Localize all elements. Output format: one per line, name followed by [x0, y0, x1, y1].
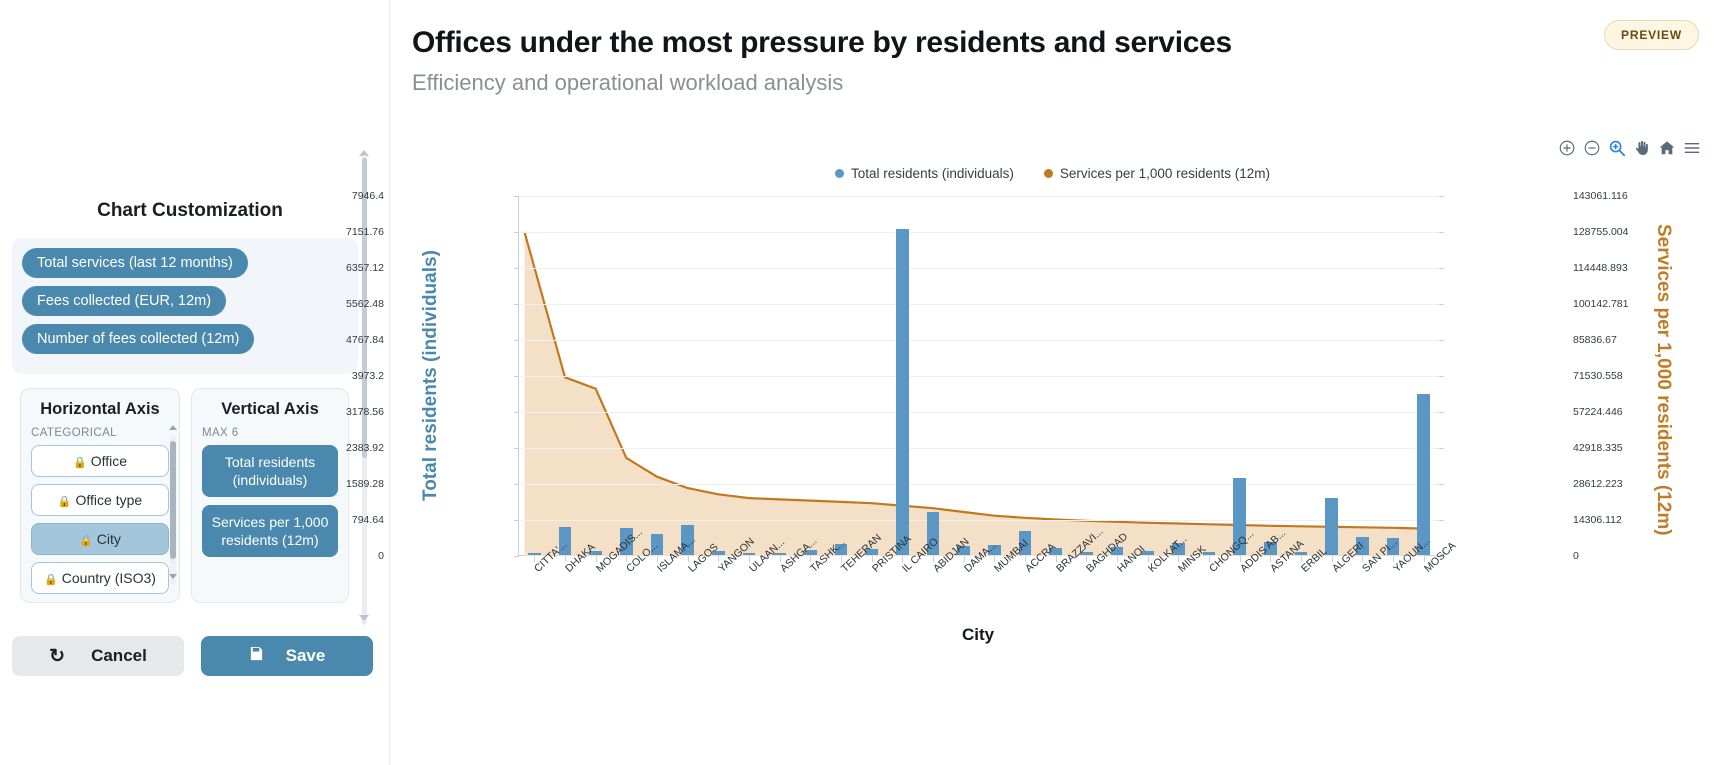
legend-swatch-icon	[835, 169, 844, 178]
chart-plot-area[interactable]: 00794.6414306.1121589.2828612.2232383.92…	[518, 196, 1438, 556]
y-axis-left-tickmark	[514, 268, 519, 269]
h-field-city-label: City	[97, 531, 121, 547]
sidebar-scroll-down-caret[interactable]	[359, 615, 369, 621]
x-axis-tickmark	[994, 556, 995, 562]
y-axis-right-tickmark	[1439, 340, 1444, 341]
x-axis-tickmark	[534, 556, 535, 562]
unused-fields-pool: Total services (last 12 months) Fees col…	[12, 238, 358, 374]
x-axis-tickmark	[1209, 556, 1210, 562]
x-axis-tickmark	[1086, 556, 1087, 562]
x-axis-tickmark	[688, 556, 689, 562]
cancel-button[interactable]: ↻ Cancel	[12, 636, 184, 676]
preview-button[interactable]: PREVIEW	[1604, 20, 1699, 50]
h-field-country-iso3[interactable]: 🔒Country (ISO3)	[31, 562, 169, 594]
y-axis-right-tick-label: 42918.335	[1573, 442, 1623, 454]
y-axis-right-tickmark	[1439, 448, 1444, 449]
y-axis-left-tickmark	[514, 376, 519, 377]
lock-icon: 🔒	[79, 535, 93, 547]
zoom-select-icon[interactable]	[1608, 139, 1626, 157]
gridline	[519, 340, 1439, 341]
chart-bar[interactable]	[528, 553, 541, 555]
h-field-office-type-label: Office type	[76, 492, 143, 508]
vertical-axis-field-list: Total residents (individuals) Services p…	[192, 445, 348, 557]
vertical-axis-card: Vertical Axis MAX 6 Total residents (ind…	[191, 388, 349, 603]
x-axis-tickmark	[596, 556, 597, 562]
horizontal-axis-title: Horizontal Axis	[21, 400, 179, 419]
gridline	[519, 304, 1439, 305]
y-axis-left-tick-label: 1589.28	[346, 478, 384, 490]
gridline	[519, 448, 1439, 449]
chart-customization-sidebar: Chart Customization Total services (last…	[0, 0, 390, 765]
chart-main-area: Offices under the most pressure by resid…	[390, 0, 1715, 765]
menu-icon[interactable]	[1683, 139, 1701, 157]
gridline	[519, 376, 1439, 377]
y-axis-right-tick-label: 128755.004	[1573, 226, 1628, 238]
x-axis-tickmark	[964, 556, 965, 562]
h-axis-scroll-down-caret[interactable]	[169, 574, 177, 579]
h-axis-scrollbar-thumb[interactable]	[170, 441, 176, 559]
v-field-services-per-1000[interactable]: Services per 1,000 residents (12m)	[202, 505, 338, 557]
save-button-label: Save	[286, 646, 326, 666]
y-axis-left-tick-label: 0	[378, 550, 384, 562]
y-axis-left-tickmark	[514, 196, 519, 197]
v-field-total-residents[interactable]: Total residents (individuals)	[202, 445, 338, 497]
y-axis-right-tickmark	[1439, 376, 1444, 377]
y-axis-left-tickmark	[514, 556, 519, 557]
gridline	[519, 412, 1439, 413]
x-axis-tickmark	[1025, 556, 1026, 562]
field-pill-number-of-fees[interactable]: Number of fees collected (12m)	[22, 324, 254, 354]
legend-label-services-per-1000: Services per 1,000 residents (12m)	[1060, 166, 1270, 181]
legend-item-services-per-1000[interactable]: Services per 1,000 residents (12m)	[1044, 166, 1270, 181]
y-axis-right-tick-label: 0	[1573, 550, 1579, 562]
y-axis-left-tick-label: 7946.4	[352, 190, 384, 202]
x-axis-tickmark	[749, 556, 750, 562]
undo-icon: ↻	[49, 645, 65, 668]
x-axis-tickmark	[1424, 556, 1425, 562]
x-axis-tickmark	[1240, 556, 1241, 562]
cancel-button-label: Cancel	[91, 646, 147, 666]
y-axis-left-tick-label: 2383.92	[346, 442, 384, 454]
x-axis-tickmark	[1056, 556, 1057, 562]
x-axis-tickmark	[933, 556, 934, 562]
page-subtitle: Efficiency and operational workload anal…	[412, 70, 843, 96]
y-axis-right-tick-label: 85836.67	[1573, 334, 1617, 346]
y-axis-right-tick-label: 114448.893	[1573, 262, 1628, 274]
x-axis-tickmark	[1393, 556, 1394, 562]
horizontal-axis-card: Horizontal Axis CATEGORICAL 🔒Office 🔒Off…	[20, 388, 180, 603]
h-field-office[interactable]: 🔒Office	[31, 445, 169, 477]
lock-icon: 🔒	[73, 457, 87, 469]
h-field-city[interactable]: 🔒City	[31, 523, 169, 555]
x-axis-tickmark	[1270, 556, 1271, 562]
y-axis-left-tickmark	[514, 484, 519, 485]
y-axis-left-label: Total residents (individuals)	[420, 196, 442, 556]
save-button[interactable]: Save	[201, 636, 373, 676]
field-pill-fees-collected[interactable]: Fees collected (EUR, 12m)	[22, 286, 226, 316]
gridline	[519, 232, 1439, 233]
x-axis-tickmark	[902, 556, 903, 562]
chart-bar[interactable]	[1417, 394, 1430, 555]
gridline	[519, 520, 1439, 521]
x-axis-tickmark	[1178, 556, 1179, 562]
y-axis-right-tick-label: 143061.116	[1573, 190, 1628, 202]
y-axis-right-tickmark	[1439, 304, 1444, 305]
y-axis-left-tick-label: 3178.56	[346, 406, 384, 418]
field-pill-total-services[interactable]: Total services (last 12 months)	[22, 248, 248, 278]
zoom-out-icon[interactable]	[1583, 139, 1601, 157]
chart-bar[interactable]	[1325, 498, 1338, 555]
y-axis-left-tick-label: 3973.2	[352, 370, 384, 382]
home-reset-icon[interactable]	[1658, 139, 1676, 157]
gridline	[519, 484, 1439, 485]
panel-title: Chart Customization	[0, 200, 380, 222]
page-title: Offices under the most pressure by resid…	[412, 26, 1232, 60]
x-axis-tickmark	[780, 556, 781, 562]
pan-hand-icon[interactable]	[1633, 139, 1651, 157]
y-axis-left-tickmark	[514, 412, 519, 413]
chart-toolbar	[1558, 139, 1701, 157]
x-axis-tickmark	[718, 556, 719, 562]
x-axis-tickmark	[626, 556, 627, 562]
legend-swatch-icon	[1044, 169, 1053, 178]
vertical-axis-title: Vertical Axis	[192, 400, 348, 419]
legend-label-total-residents: Total residents (individuals)	[851, 166, 1014, 181]
chart-legend: Total residents (individuals) Services p…	[390, 166, 1715, 181]
gridline	[519, 196, 1439, 197]
y-axis-left-tick-label: 794.64	[352, 514, 384, 526]
h-field-office-type[interactable]: 🔒Office type	[31, 484, 169, 516]
y-axis-right-label: Services per 1,000 residents (12m)	[1652, 180, 1674, 580]
legend-item-total-residents[interactable]: Total residents (individuals)	[835, 166, 1014, 181]
y-axis-right-tickmark	[1439, 520, 1444, 521]
y-axis-right-tick-label: 57224.446	[1573, 406, 1623, 418]
y-axis-left-tick-label: 7151.76	[346, 226, 384, 238]
x-axis-tickmark	[841, 556, 842, 562]
horizontal-axis-field-list: 🔒Office 🔒Office type 🔒City 🔒Country (ISO…	[21, 445, 179, 594]
y-axis-left-tick-label: 4767.84	[346, 334, 384, 346]
y-axis-left-tick-label: 6357.12	[346, 262, 384, 274]
x-axis-tickmark	[872, 556, 873, 562]
vertical-axis-subtitle: MAX 6	[202, 427, 348, 439]
zoom-in-icon[interactable]	[1558, 139, 1576, 157]
x-axis-tickmark	[1117, 556, 1118, 562]
y-axis-right-tickmark	[1439, 484, 1444, 485]
gridline	[519, 268, 1439, 269]
y-axis-left-tickmark	[514, 304, 519, 305]
y-axis-left-tickmark	[514, 520, 519, 521]
x-axis-tickmark	[1332, 556, 1333, 562]
floppy-disk-icon	[249, 646, 264, 666]
x-axis-tickmark	[810, 556, 811, 562]
sidebar-action-row: ↻ Cancel Save	[12, 636, 377, 676]
x-axis-tickmark	[565, 556, 566, 562]
y-axis-left-tickmark	[514, 448, 519, 449]
x-axis-tickmark	[1362, 556, 1363, 562]
y-axis-right-tick-label: 28612.223	[1573, 478, 1623, 490]
y-axis-right-tick-label: 71530.558	[1573, 370, 1623, 382]
h-field-office-label: Office	[91, 453, 127, 469]
horizontal-axis-subtitle: CATEGORICAL	[31, 427, 179, 439]
y-axis-right-tick-label: 14306.112	[1573, 514, 1622, 526]
x-axis-tickmark	[657, 556, 658, 562]
y-axis-right-tickmark	[1439, 196, 1444, 197]
y-axis-right-tickmark	[1439, 232, 1444, 233]
y-axis-left-tickmark	[514, 340, 519, 341]
x-axis-tickmark	[1301, 556, 1302, 562]
y-axis-right-tickmark	[1439, 412, 1444, 413]
x-axis-label: City	[518, 625, 1438, 645]
y-axis-right-tick-label: 100142.781	[1573, 298, 1628, 310]
h-axis-scroll-up-caret[interactable]	[169, 425, 177, 430]
h-field-country-label: Country (ISO3)	[62, 570, 156, 586]
chart-bar[interactable]	[896, 229, 909, 555]
x-axis-tickmark	[1148, 556, 1149, 562]
y-axis-right-tickmark	[1439, 268, 1444, 269]
lock-icon: 🔒	[44, 574, 58, 586]
area-series-fill	[525, 232, 1424, 556]
y-axis-left-tick-label: 5562.48	[346, 298, 384, 310]
lock-icon: 🔒	[58, 496, 72, 508]
y-axis-left-tickmark	[514, 232, 519, 233]
